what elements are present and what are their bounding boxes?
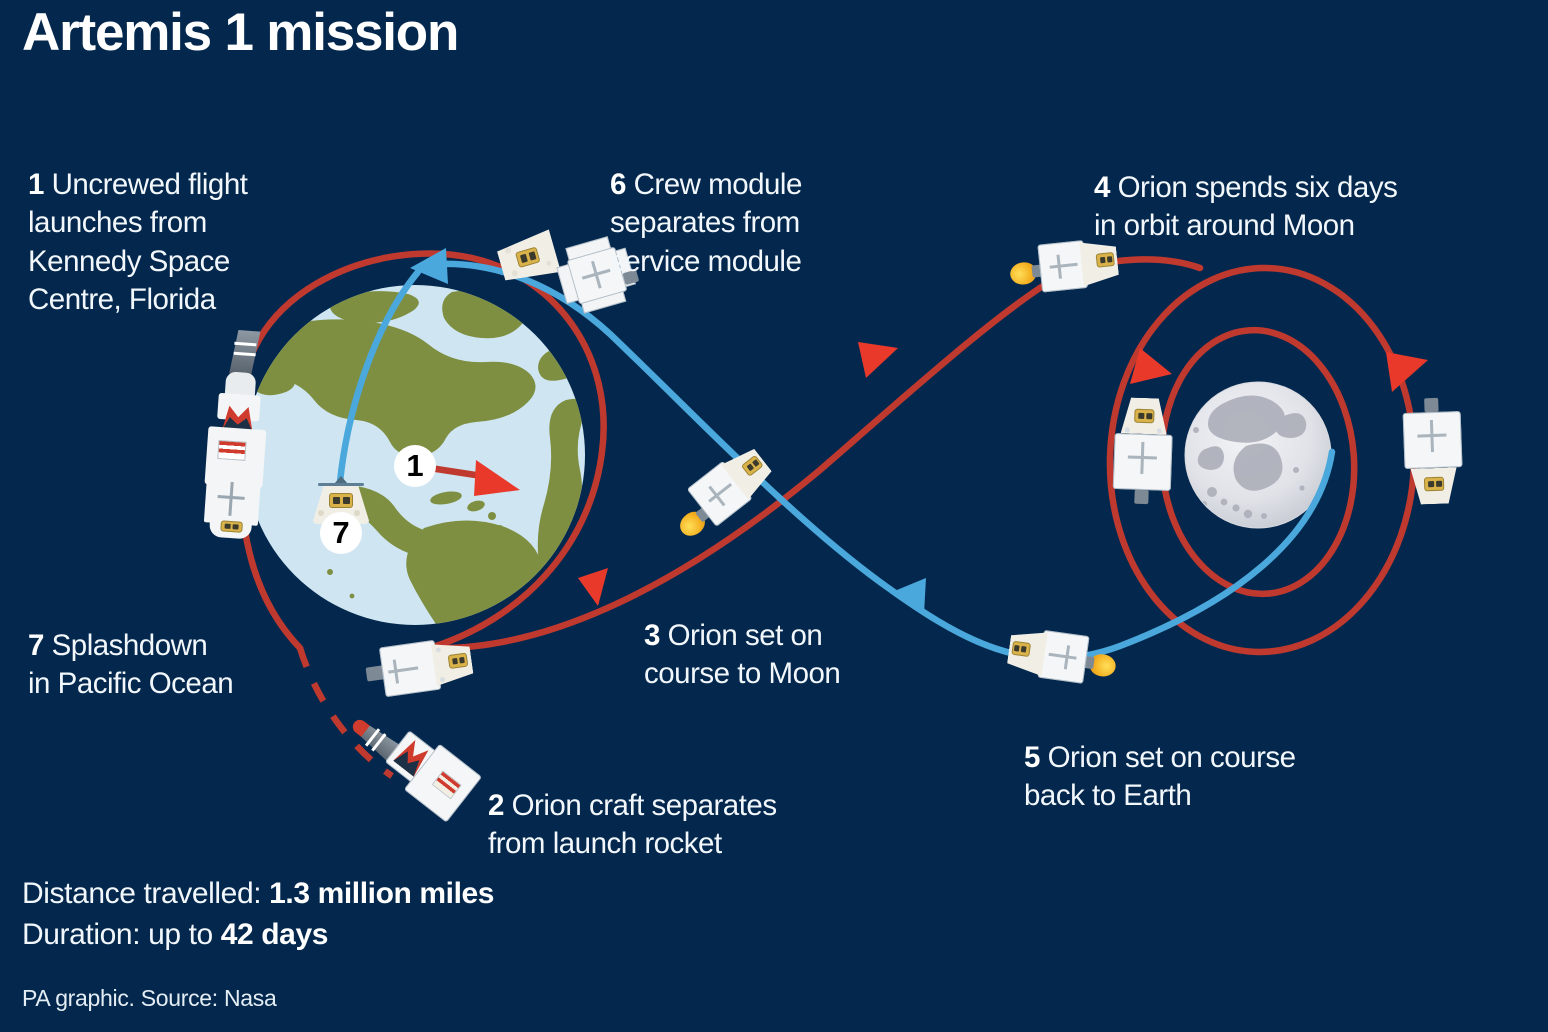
step-7-text: Splashdown in Pacific Ocean	[28, 629, 233, 701]
step-1-label: 1 Uncrewed flight launches from Kennedy …	[28, 127, 348, 320]
step-1-number: 1	[28, 168, 52, 201]
distance-fact: Distance travelled: 1.3 million miles	[22, 873, 494, 914]
step-4-label: 4 Orion spends six days in orbit around …	[1094, 130, 1514, 246]
map-marker-1: 1	[394, 445, 436, 487]
orion-spacecraft-lunar-orbit-left	[1104, 397, 1184, 512]
duration-fact: Duration: up to 42 days	[22, 914, 494, 955]
orion-spacecraft-lunar-orbit-right	[1394, 395, 1474, 510]
mission-facts: Distance travelled: 1.3 million miles Du…	[22, 873, 494, 955]
step-6-text: Crew module separates from service modul…	[610, 168, 802, 278]
step-5-text: Orion set on course back to Earth	[1024, 741, 1296, 813]
page-title: Artemis 1 mission	[22, 0, 458, 66]
step-4-number: 4	[1094, 171, 1118, 204]
earth-arc-arrowhead	[578, 568, 608, 606]
distance-label: Distance travelled:	[22, 877, 269, 910]
step-4-text: Orion spends six days in orbit around Mo…	[1094, 171, 1397, 243]
duration-label: Duration: up to	[22, 918, 221, 951]
orion-separating-from-rocket	[344, 722, 494, 818]
distance-value: 1.3 million miles	[269, 877, 494, 910]
step-3-number: 3	[644, 619, 668, 652]
step-7-number: 7	[28, 629, 52, 662]
sls-launch-rocket	[189, 328, 279, 543]
duration-value: 42 days	[221, 918, 328, 951]
moon-globe	[1185, 382, 1331, 528]
step-1-text: Uncrewed flight launches from Kennedy Sp…	[28, 168, 247, 317]
step-5-number: 5	[1024, 741, 1048, 774]
to-moon-arrowhead	[858, 342, 898, 378]
step-3-label: 3 Orion set on course to Moon	[644, 578, 944, 694]
step-3-text: Orion set on course to Moon	[644, 619, 840, 691]
infographic-canvas: 1 7 Artemis 1 mission 1 Uncrewed flight …	[0, 0, 1548, 1032]
map-marker-7: 7	[320, 512, 362, 554]
step-6-label: 6 Crew module separates from service mod…	[610, 127, 910, 281]
step-7-label: 7 Splashdown in Pacific Ocean	[28, 588, 328, 704]
step-2-number: 2	[488, 789, 512, 822]
step-2-label: 2 Orion craft separates from launch rock…	[488, 748, 908, 864]
step-5-label: 5 Orion set on course back to Earth	[1024, 700, 1424, 816]
source-credit: PA graphic. Source: Nasa	[22, 985, 276, 1012]
step-2-text: Orion craft separates from launch rocket	[488, 789, 777, 861]
step-6-number: 6	[610, 168, 634, 201]
